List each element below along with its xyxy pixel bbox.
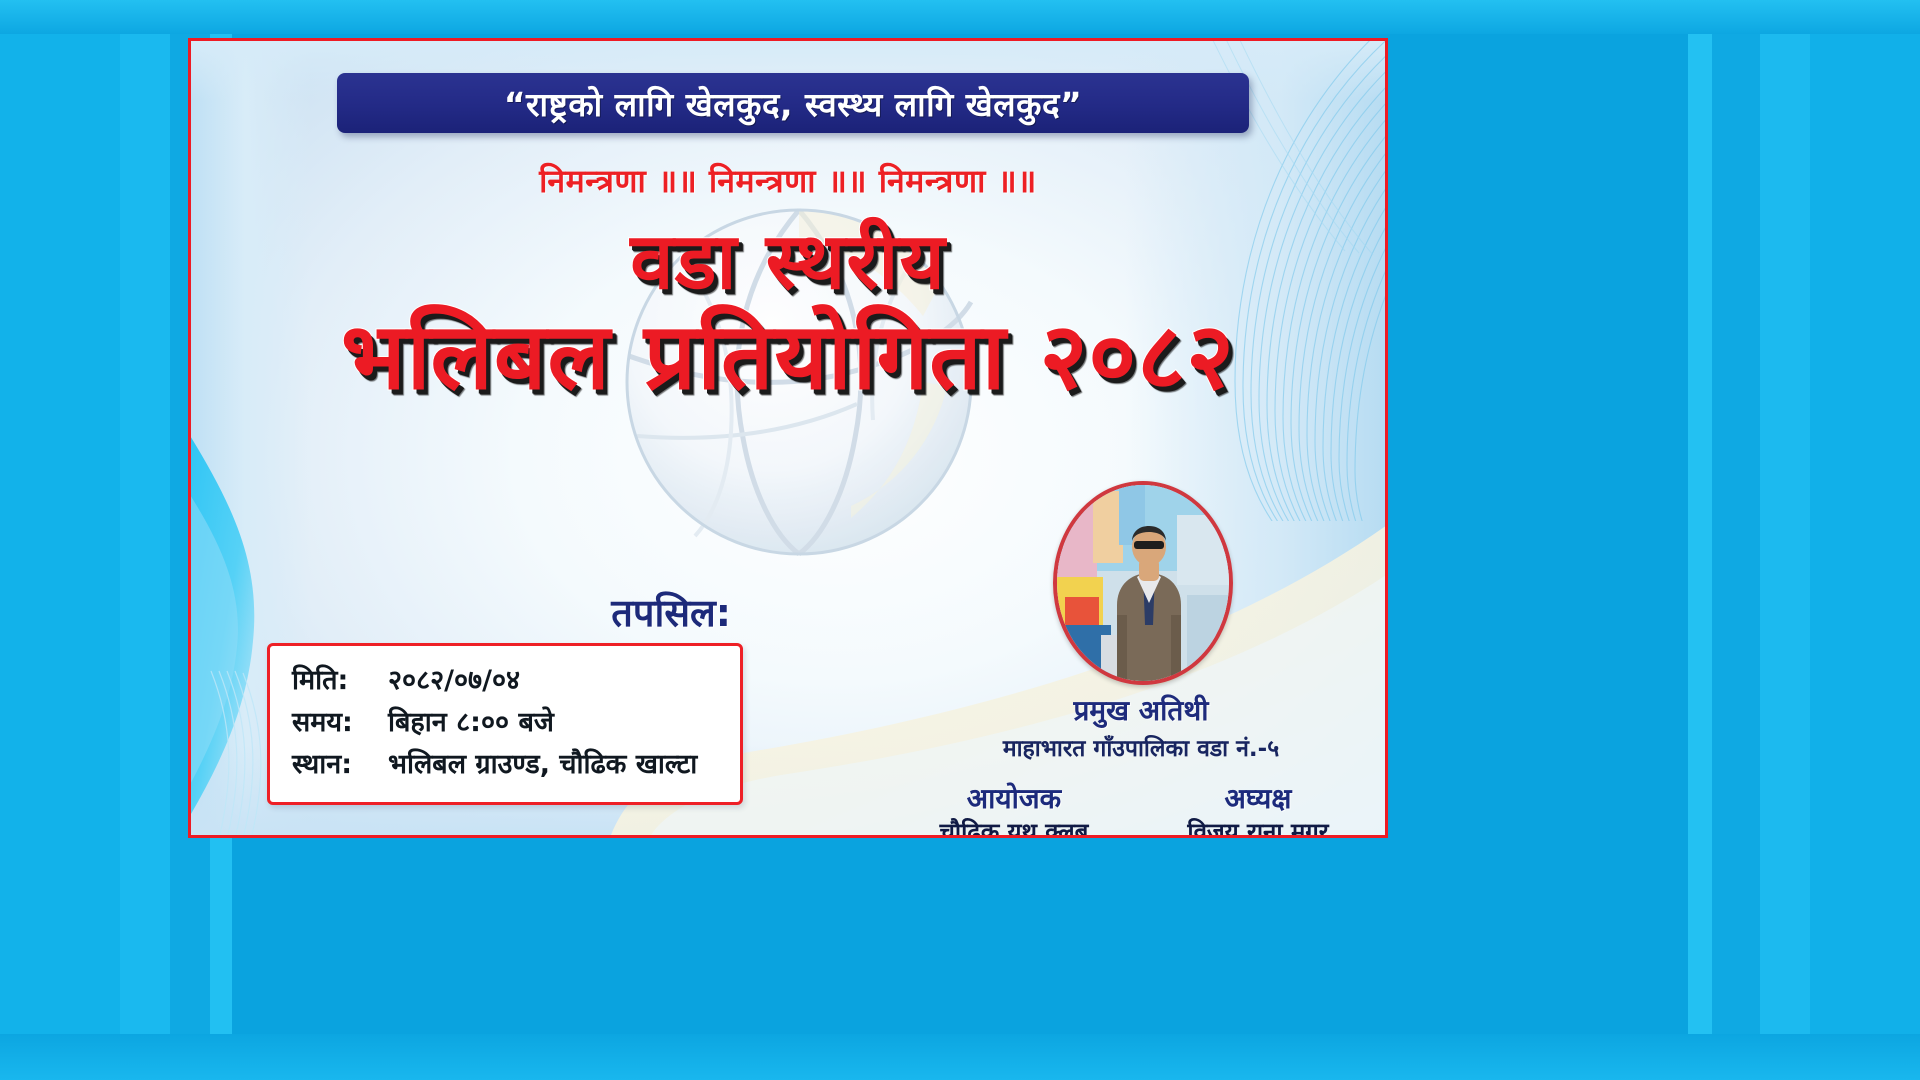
- quote-banner: “राष्ट्रको लागि खेलकुद, स्वस्थ्य लागि खे…: [337, 73, 1249, 133]
- footer-columns: आयोजक चौढिक युथ क्लब अघ्यक्ष विजय राना म…: [881, 783, 1388, 838]
- organizer-name: चौढिक युथ क्लब: [909, 817, 1119, 838]
- detail-row-venue: स्थान: भलिबल ग्राउण्ड, चौढिक खाल्टा: [292, 744, 718, 786]
- quote-text: “राष्ट्रको लागि खेलकुद, स्वस्थ्य लागि खे…: [504, 81, 1082, 126]
- footer-col-organizer: आयोजक चौढिक युथ क्लब: [909, 783, 1119, 838]
- detail-row-time: समय: बिहान ८:०० बजे: [292, 702, 718, 744]
- chairperson-name: विजय राना मगर: [1153, 817, 1363, 838]
- poster-card: “राष्ट्रको लागि खेलकुद, स्वस्थ्य लागि खे…: [188, 38, 1388, 838]
- poster-canvas: “राष्ट्रको लागि खेलकुद, स्वस्थ्य लागि खे…: [0, 0, 1920, 1080]
- invitation-line: निमन्त्रणा ॥॥ निमन्त्रणा ॥॥ निमन्त्रणा ॥…: [191, 159, 1385, 202]
- details-label: तपसिल:: [441, 586, 731, 638]
- guest-subtitle: माहाभारत गाँउपालिका वडा नं.-५: [891, 731, 1388, 763]
- guest-photo: [1053, 481, 1233, 685]
- detail-value-venue: भलिबल ग्राउण्ड, चौढिक खाल्टा: [388, 744, 697, 786]
- guest-title: प्रमुख अतिथी: [991, 691, 1291, 729]
- detail-value-time: बिहान ८:०० बजे: [388, 702, 554, 744]
- detail-label-date: मिति:: [292, 660, 388, 702]
- chairperson-heading: अघ्यक्ष: [1153, 783, 1363, 815]
- guest-portrait: [1057, 485, 1229, 681]
- detail-label-time: समय:: [292, 702, 388, 744]
- detail-row-date: मिति: २०८२/०७/०४: [292, 660, 718, 702]
- detail-label-venue: स्थान:: [292, 744, 388, 786]
- organizer-heading: आयोजक: [909, 783, 1119, 815]
- footer-col-chairperson: अघ्यक्ष विजय राना मगर: [1153, 783, 1363, 838]
- details-box: मिति: २०८२/०७/०४ समय: बिहान ८:०० बजे स्थ…: [267, 643, 743, 805]
- detail-value-date: २०८२/०७/०४: [388, 660, 520, 702]
